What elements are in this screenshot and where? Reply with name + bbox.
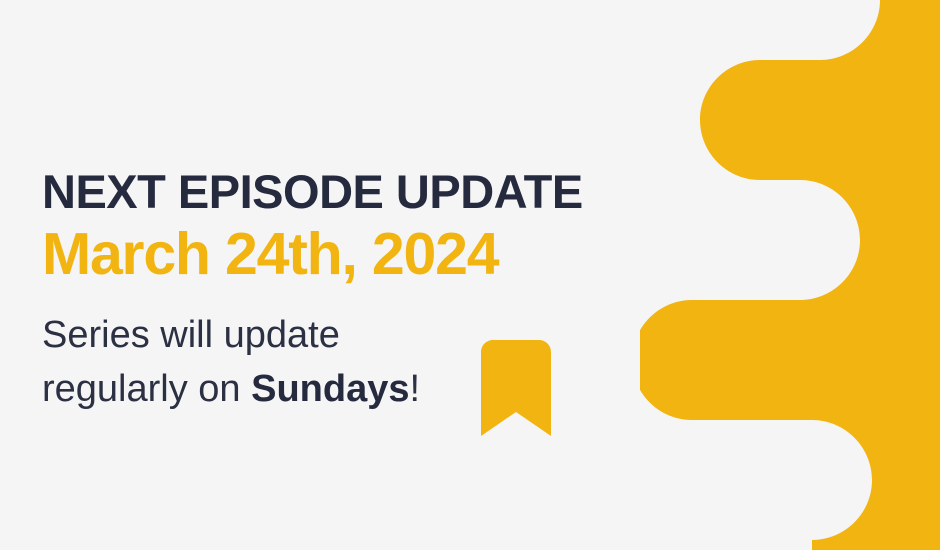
schedule-note-trail: ! <box>410 368 421 410</box>
bookmark-icon <box>481 340 551 436</box>
episode-date: March 24th, 2024 <box>42 223 662 287</box>
text-block: NEXT EPISODE UPDATE March 24th, 2024 Ser… <box>42 168 662 417</box>
schedule-note-day: Sundays <box>251 368 409 410</box>
schedule-note: Series will update regularly on Sundays! <box>42 309 472 417</box>
episode-update-banner: NEXT EPISODE UPDATE March 24th, 2024 Ser… <box>0 0 940 550</box>
page-title: NEXT EPISODE UPDATE <box>42 168 662 217</box>
wave-decoration-icon <box>640 0 940 550</box>
